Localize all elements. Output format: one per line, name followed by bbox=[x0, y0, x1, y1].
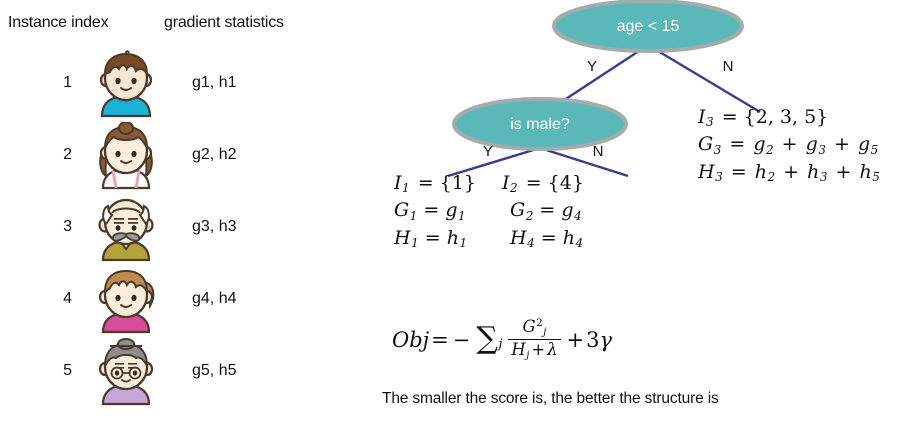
leaf1-G-rhs: = g bbox=[423, 199, 457, 221]
edge-root-no bbox=[648, 45, 760, 112]
obj-label: Obj bbox=[392, 328, 429, 352]
leaf-stats-2: I2 = {4} G2 = g4 H4 = h4 bbox=[502, 170, 586, 252]
leaf1-I-sub: 1 bbox=[402, 181, 410, 195]
lambda-symbol: λ bbox=[547, 340, 557, 359]
instance-index-value: 1 bbox=[50, 74, 72, 92]
leaf3-H-p2: + bbox=[834, 161, 854, 183]
leaf3-G-sub: 3 bbox=[713, 143, 721, 157]
sigma-index: j bbox=[498, 337, 503, 352]
tree-node-is-male-label: is male? bbox=[510, 116, 570, 133]
column-header-instance-index: Instance index bbox=[8, 14, 108, 32]
leaf1-G-rhs-sub: 1 bbox=[457, 209, 465, 223]
num-sub: j bbox=[543, 326, 547, 338]
leaf1-G: G bbox=[394, 199, 409, 221]
obj-minus: − bbox=[451, 328, 473, 352]
leaf1-H-sub: 1 bbox=[411, 236, 419, 250]
decision-tree-panel: age < 15 is male? Y N Y N I1 = {1} G1 = … bbox=[330, 0, 920, 421]
leaf3-H: H bbox=[698, 161, 715, 183]
instances-panel: Instance index gradient statistics 1 g1,… bbox=[0, 0, 330, 421]
leaf-stats-3: I3 = {2, 3, 5} G3 = g2 + g3 + g5 H3 = h2… bbox=[698, 104, 880, 186]
leaf3-H-t3-sub: 5 bbox=[872, 170, 880, 184]
leaf3-G-t1: g bbox=[753, 133, 765, 155]
sigma-icon: ∑ bbox=[476, 327, 497, 351]
num-exp: 2 bbox=[536, 317, 543, 329]
leaf2-I: I bbox=[502, 172, 510, 194]
table-row: 2 g2, h2 bbox=[0, 120, 330, 192]
leaf2-H-rhs: = h bbox=[541, 227, 575, 249]
instance-index-value: 2 bbox=[50, 146, 72, 164]
caption-text: The smaller the score is, the better the… bbox=[382, 390, 719, 408]
branch-label-root-no: N bbox=[723, 58, 734, 75]
fraction-denominator: Hj+λ bbox=[508, 339, 560, 361]
instance-index-value: 4 bbox=[50, 290, 72, 308]
objective-formula: Obj = − ∑j G2j Hj+λ + 3γ bbox=[392, 318, 612, 361]
leaf3-G: G bbox=[698, 133, 713, 155]
boy-avatar bbox=[92, 50, 160, 118]
gamma-symbol: γ bbox=[599, 328, 612, 352]
leaf1-I-rhs: = {1} bbox=[416, 172, 478, 194]
den-plus: + bbox=[529, 340, 547, 359]
leaf2-G: G bbox=[510, 199, 525, 221]
gradient-statistics-value: g3, h3 bbox=[192, 218, 236, 236]
branch-label-child-no: N bbox=[593, 143, 604, 160]
summation: ∑j bbox=[476, 327, 502, 352]
leaf2-G-sub: 2 bbox=[525, 209, 533, 223]
instance-index-value: 5 bbox=[50, 362, 72, 380]
leaf1-H: H bbox=[394, 227, 411, 249]
leaf3-G-p1: + bbox=[780, 133, 800, 155]
table-row: 3 g3, h3 bbox=[0, 192, 330, 264]
den-H: H bbox=[511, 340, 525, 359]
leaf1-H-rhs: = h bbox=[425, 227, 459, 249]
leaf2-H-rhs-sub: 4 bbox=[575, 236, 583, 250]
num-G: G bbox=[523, 317, 536, 336]
objective-fraction: G2j Hj+λ bbox=[508, 318, 560, 361]
leaf3-H-t3: h bbox=[860, 161, 872, 183]
leaf1-I: I bbox=[394, 172, 402, 194]
young-woman-avatar bbox=[92, 266, 160, 334]
table-row: 1 g1, h1 bbox=[0, 48, 330, 120]
tree-node-root-label: age < 15 bbox=[617, 18, 680, 35]
leaf3-G-t3: g bbox=[858, 133, 870, 155]
girl-avatar bbox=[92, 122, 160, 190]
leaf3-G-t3-sub: 5 bbox=[870, 143, 878, 157]
table-row: 4 g4, h4 bbox=[0, 264, 330, 336]
gradient-statistics-value: g1, h1 bbox=[192, 74, 236, 92]
old-woman-avatar bbox=[92, 338, 160, 406]
leaf3-H-p1: + bbox=[781, 161, 801, 183]
leaf3-G-eq: = bbox=[727, 133, 747, 155]
branch-label-child-yes: Y bbox=[483, 143, 493, 160]
leaf3-G-t1-sub: 2 bbox=[766, 143, 774, 157]
gradient-statistics-value: g5, h5 bbox=[192, 362, 236, 380]
fraction-numerator: G2j bbox=[520, 318, 550, 339]
obj-equals: = bbox=[429, 328, 451, 352]
table-row: 5 g5, h5 bbox=[0, 336, 330, 408]
leaf3-G-t2: g bbox=[806, 133, 818, 155]
leaf3-H-t2: h bbox=[807, 161, 819, 183]
leaf3-H-eq: = bbox=[729, 161, 749, 183]
leaf-stats-1: I1 = {1} G1 = g1 H1 = h1 bbox=[394, 170, 478, 252]
leaf2-G-rhs-sub: 4 bbox=[573, 209, 581, 223]
instance-index-value: 3 bbox=[50, 218, 72, 236]
old-man-avatar bbox=[92, 194, 160, 262]
leaf3-I: I bbox=[698, 106, 706, 128]
leaf3-G-t2-sub: 3 bbox=[818, 143, 826, 157]
column-header-gradient-statistics: gradient statistics bbox=[164, 14, 284, 32]
gradient-statistics-value: g2, h2 bbox=[192, 146, 236, 164]
leaf1-H-rhs-sub: 1 bbox=[459, 236, 467, 250]
leaf1-G-sub: 1 bbox=[409, 209, 417, 223]
leaf3-H-sub: 3 bbox=[715, 170, 723, 184]
leaf2-H-sub: 4 bbox=[527, 236, 535, 250]
leaf3-H-t1: h bbox=[755, 161, 767, 183]
branch-label-root-yes: Y bbox=[587, 58, 597, 75]
leaf2-G-rhs: = g bbox=[539, 199, 573, 221]
gradient-statistics-value: g4, h4 bbox=[192, 290, 236, 308]
leaf2-H: H bbox=[510, 227, 527, 249]
leaf2-I-sub: 2 bbox=[510, 181, 518, 195]
leaf3-H-t2-sub: 3 bbox=[819, 170, 827, 184]
gamma-coefficient: 3 bbox=[586, 328, 599, 352]
leaf3-H-t1-sub: 2 bbox=[767, 170, 775, 184]
leaf3-I-sub: 3 bbox=[706, 115, 714, 129]
leaf2-I-rhs: = {4} bbox=[524, 172, 586, 194]
obj-plus: + bbox=[565, 328, 587, 352]
leaf3-I-rhs: = {2, 3, 5} bbox=[720, 106, 831, 128]
leaf3-G-p2: + bbox=[832, 133, 852, 155]
